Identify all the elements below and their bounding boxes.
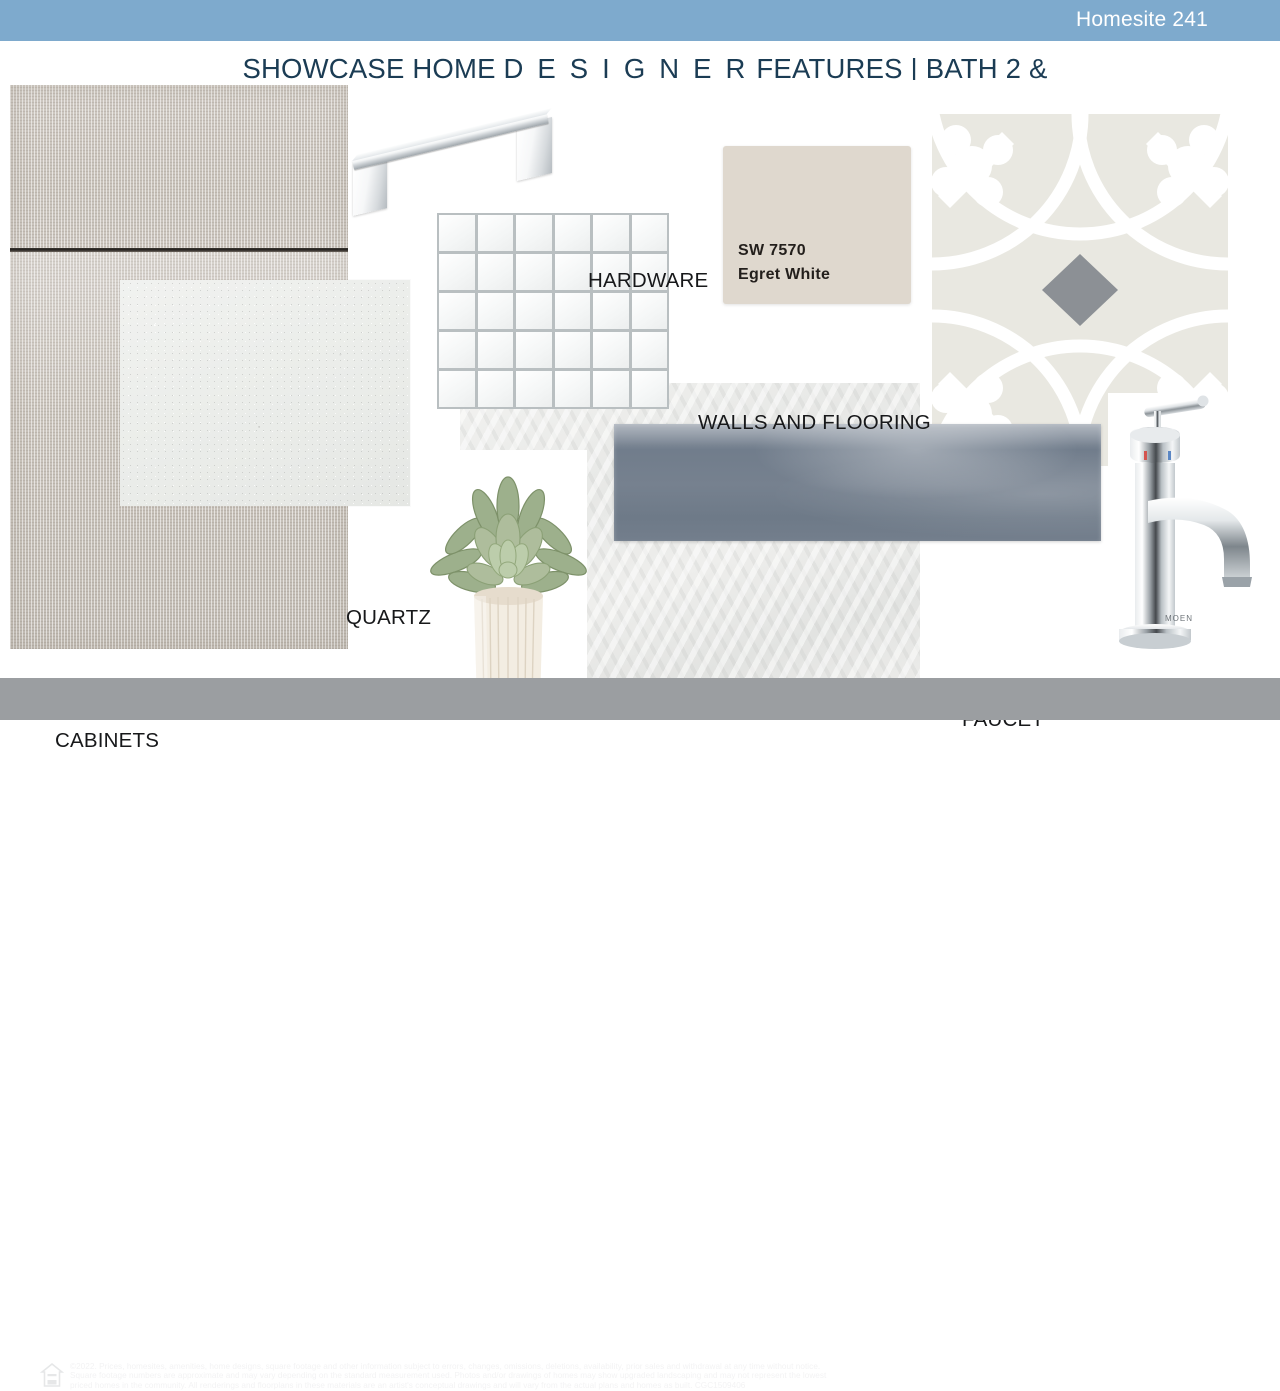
mosaic-cell — [632, 293, 668, 329]
mosaic-cell — [516, 332, 552, 368]
caption-quartz: QUARTZ — [346, 606, 431, 630]
mosaic-cell — [478, 293, 514, 329]
succulent-plant-icon — [430, 450, 587, 713]
mosaic-cell — [439, 215, 475, 251]
mosaic-cell — [632, 332, 668, 368]
mosaic-cell — [439, 332, 475, 368]
mosaic-cell — [516, 371, 552, 407]
footer-disclaimer: ©2022. Prices, homesites, amenities, hom… — [70, 1362, 1080, 1390]
mosaic-cell — [555, 371, 591, 407]
slide-canvas: Homesite 241 SHOWCASE HOME D E S I G N E… — [0, 0, 1280, 720]
equal-housing-opportunity-icon — [40, 1361, 64, 1391]
faucet-icon: MOEN — [1108, 393, 1273, 658]
mosaic-cell — [593, 293, 629, 329]
mosaic-cell — [555, 254, 591, 290]
footer-disclaimer-line-1: ©2022. Prices, homesites, amenities, hom… — [70, 1362, 1080, 1371]
potted-succulent-photo — [430, 450, 587, 713]
mosaic-cell — [555, 215, 591, 251]
logo-light-part: HOMES — [1193, 1367, 1265, 1389]
mosaic-cell — [439, 254, 475, 290]
mosaic-cell — [516, 254, 552, 290]
mosaic-cell — [555, 293, 591, 329]
mosaic-cell — [439, 293, 475, 329]
mosaic-cell — [516, 293, 552, 329]
white-mosaic-tile-swatch — [437, 213, 669, 409]
paint-code: SW 7570 — [738, 242, 806, 260]
paint-swatch-card: SW 7570 Egret White — [723, 146, 911, 304]
mosaic-cell — [478, 332, 514, 368]
mosaic-cell — [593, 215, 629, 251]
cabinet-hardware-pull — [345, 108, 570, 218]
logo-registered-mark: ® — [1264, 1369, 1270, 1378]
paint-name: Egret White — [738, 266, 830, 284]
mosaic-cell — [555, 332, 591, 368]
mood-board: SW 7570 Egret White — [0, 80, 1280, 678]
caption-cabinets: CABINETS — [55, 729, 159, 753]
quartz-countertop-swatch — [120, 280, 410, 506]
gray-subway-tile-swatch — [614, 424, 1101, 541]
subway-tile-gloss — [614, 424, 1101, 541]
kolter-homes-logo: KOLTERHOMES® — [1114, 1367, 1270, 1390]
mosaic-cell — [478, 215, 514, 251]
mosaic-cell — [478, 371, 514, 407]
svg-text:MOEN: MOEN — [1165, 614, 1193, 623]
footer-disclaimer-line-2: Square footage numbers are approximate a… — [70, 1371, 1080, 1380]
mosaic-cell — [478, 254, 514, 290]
chrome-faucet-photo: MOEN — [1108, 393, 1273, 658]
mosaic-cell — [632, 371, 668, 407]
header-bar: Homesite 241 — [0, 0, 1280, 41]
mosaic-cell — [593, 332, 629, 368]
mosaic-cell — [593, 371, 629, 407]
logo-bold-part: KOLTER — [1114, 1367, 1193, 1389]
mosaic-cell — [439, 371, 475, 407]
homesite-label: Homesite 241 — [1076, 8, 1208, 32]
footer-disclaimer-line-3: priced homes in the community. All rende… — [70, 1381, 1080, 1390]
mosaic-cell — [516, 215, 552, 251]
caption-walls-and-flooring: WALLS AND FLOORING — [698, 411, 931, 435]
mosaic-cell — [632, 215, 668, 251]
caption-hardware: HARDWARE — [588, 269, 708, 293]
footer-bar: ©2022. Prices, homesites, amenities, hom… — [0, 678, 1280, 720]
